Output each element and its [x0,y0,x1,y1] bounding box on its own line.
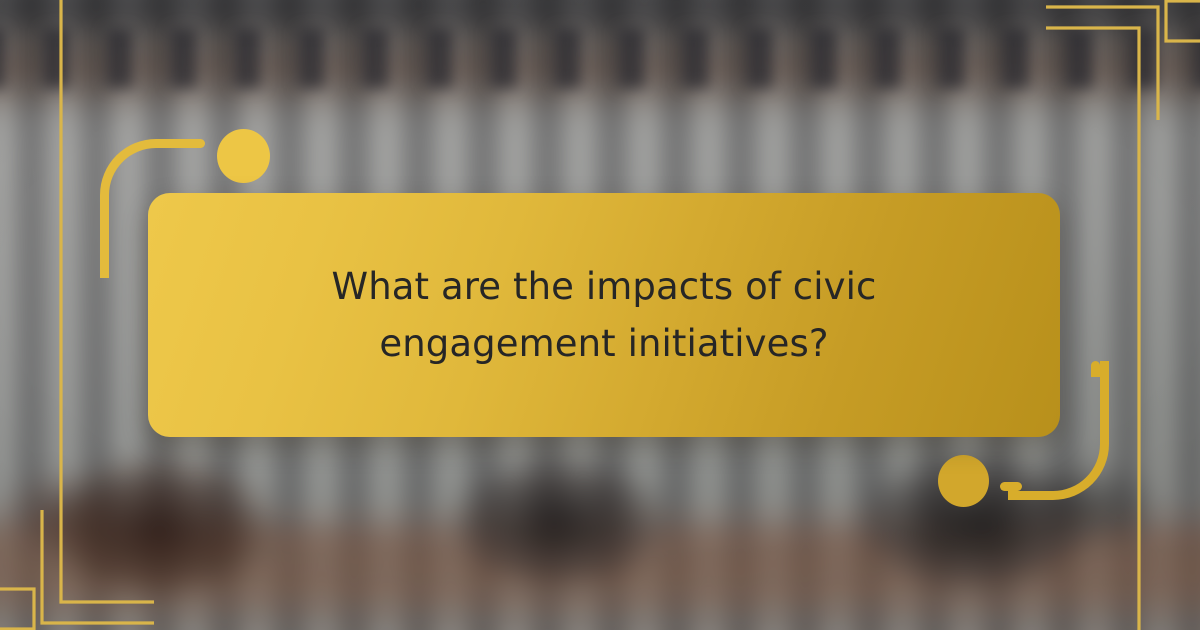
elbow-cap-bottom-right-start [1091,361,1100,377]
question-card-graphic: What are the impacts of civic engagement… [0,0,1200,630]
question-text: What are the impacts of civic engagement… [222,258,986,373]
accent-dot-top-left [217,129,270,183]
elbow-cap-top-left-start [100,254,109,270]
elbow-cap-bottom-right-end [1000,482,1022,491]
accent-dot-bottom-right [938,455,989,507]
elbow-cap-top-left-end [183,139,205,148]
question-card: What are the impacts of civic engagement… [148,193,1060,437]
